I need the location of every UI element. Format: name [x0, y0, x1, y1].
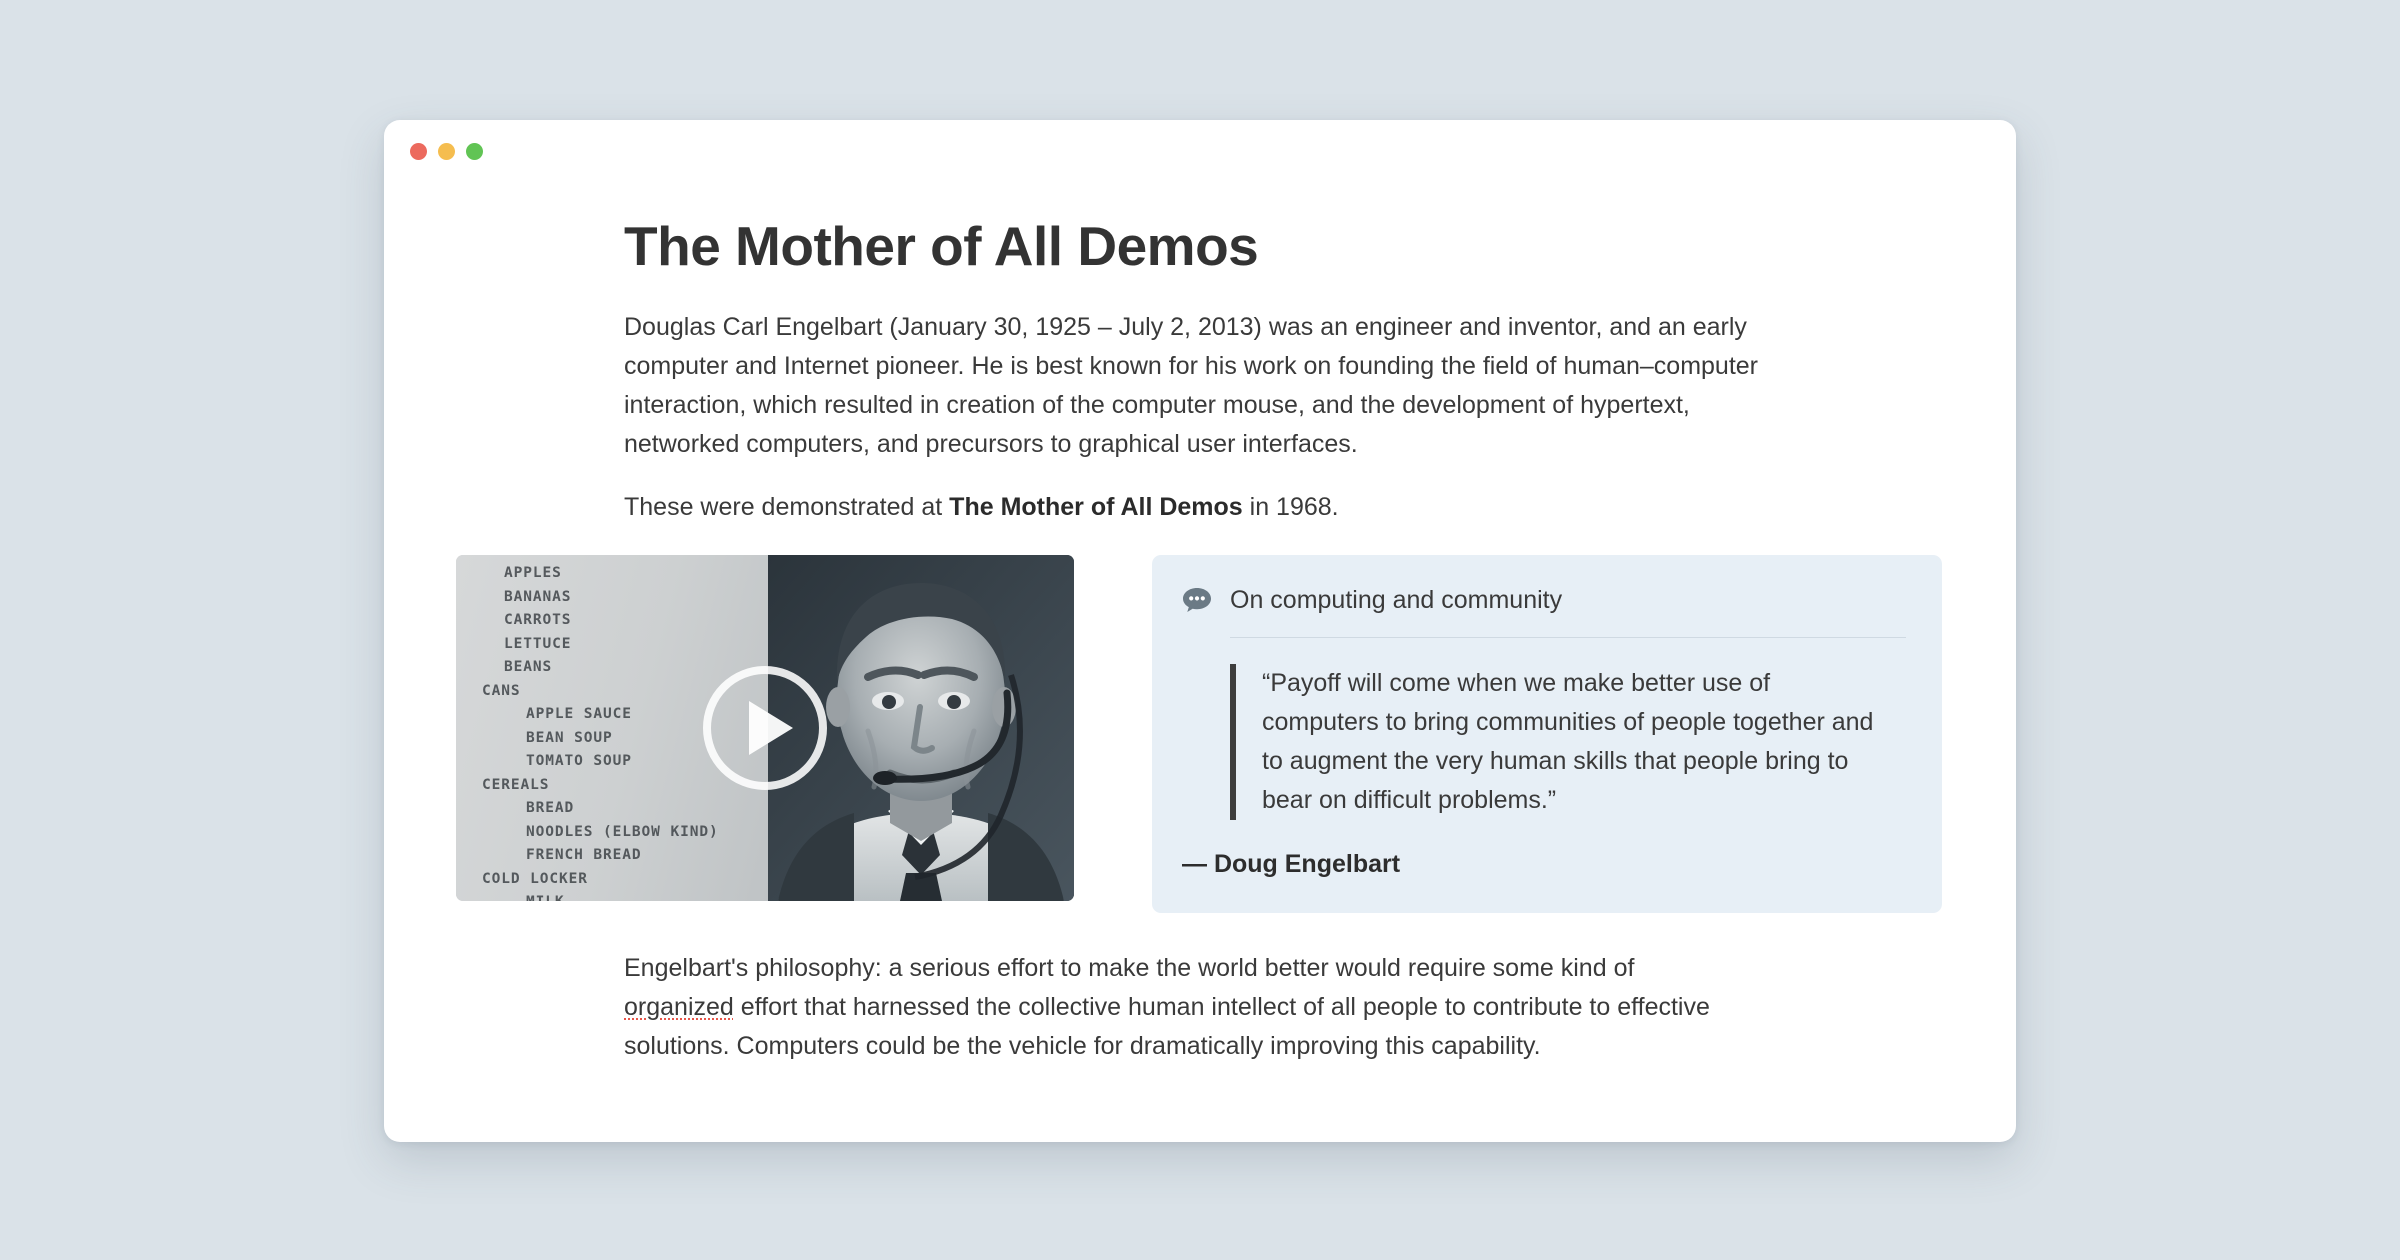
grocery-list-item: APPLES: [482, 562, 768, 586]
grocery-list-item: BEANS: [482, 656, 768, 680]
video-thumbnail[interactable]: ORANGESAPPLESBANANASCARROTSLETTUCEBEANSC…: [456, 555, 1074, 901]
closing-paragraph: Engelbart's philosophy: a serious effort…: [624, 949, 1734, 1066]
window-card: The Mother of All Demos Douglas Carl Eng…: [384, 120, 2016, 1142]
lead-paragraph: Douglas Carl Engelbart (January 30, 1925…: [624, 308, 1804, 464]
grocery-list-item: COLD LOCKER: [482, 868, 768, 892]
demo-sentence-emphasis: The Mother of All Demos: [949, 493, 1243, 521]
quote-panel-header: On computing and community: [1182, 585, 1906, 615]
article-content: The Mother of All Demos Douglas Carl Eng…: [384, 182, 2016, 1066]
grocery-list-item: CEREALS: [482, 774, 768, 798]
maximize-button[interactable]: [466, 143, 483, 160]
close-button[interactable]: [410, 143, 427, 160]
window-titlebar: [384, 120, 2016, 182]
traffic-light-group: [410, 143, 483, 160]
minimize-button[interactable]: [438, 143, 455, 160]
grocery-list-item: MILK: [482, 891, 768, 901]
grocery-list-item: BANANAS: [482, 586, 768, 610]
closing-suffix: effort that harnessed the collective hum…: [624, 993, 1710, 1060]
quote-text: “Payoff will come when we make better us…: [1230, 664, 1890, 820]
spellcheck-word[interactable]: organized: [624, 993, 734, 1021]
quote-attribution: — Doug Engelbart: [1182, 850, 1906, 879]
play-button[interactable]: [703, 666, 827, 790]
demo-sentence-suffix: in 1968.: [1243, 493, 1339, 521]
quote-panel-divider: [1230, 637, 1906, 638]
demo-sentence-prefix: These were demonstrated at: [624, 493, 949, 521]
speech-bubble-icon: [1182, 587, 1212, 613]
page-title: The Mother of All Demos: [624, 216, 2016, 278]
closing-prefix: Engelbart's philosophy: a serious effort…: [624, 954, 1634, 982]
play-triangle-icon: [749, 701, 793, 755]
demo-sentence: These were demonstrated at The Mother of…: [624, 488, 1804, 527]
grocery-list-item: NOODLES (ELBOW KIND): [482, 821, 768, 845]
grocery-list-item: BREAD: [482, 797, 768, 821]
grocery-list-item: ORANGES: [482, 555, 768, 563]
grocery-list-item: FRENCH BREAD: [482, 844, 768, 868]
media-row: ORANGESAPPLESBANANASCARROTSLETTUCEBEANSC…: [456, 555, 2016, 913]
grocery-list-item: LETTUCE: [482, 633, 768, 657]
grocery-list-item: CARROTS: [482, 609, 768, 633]
quote-panel: On computing and community “Payoff will …: [1152, 555, 1942, 913]
quote-panel-title: On computing and community: [1230, 585, 1562, 615]
